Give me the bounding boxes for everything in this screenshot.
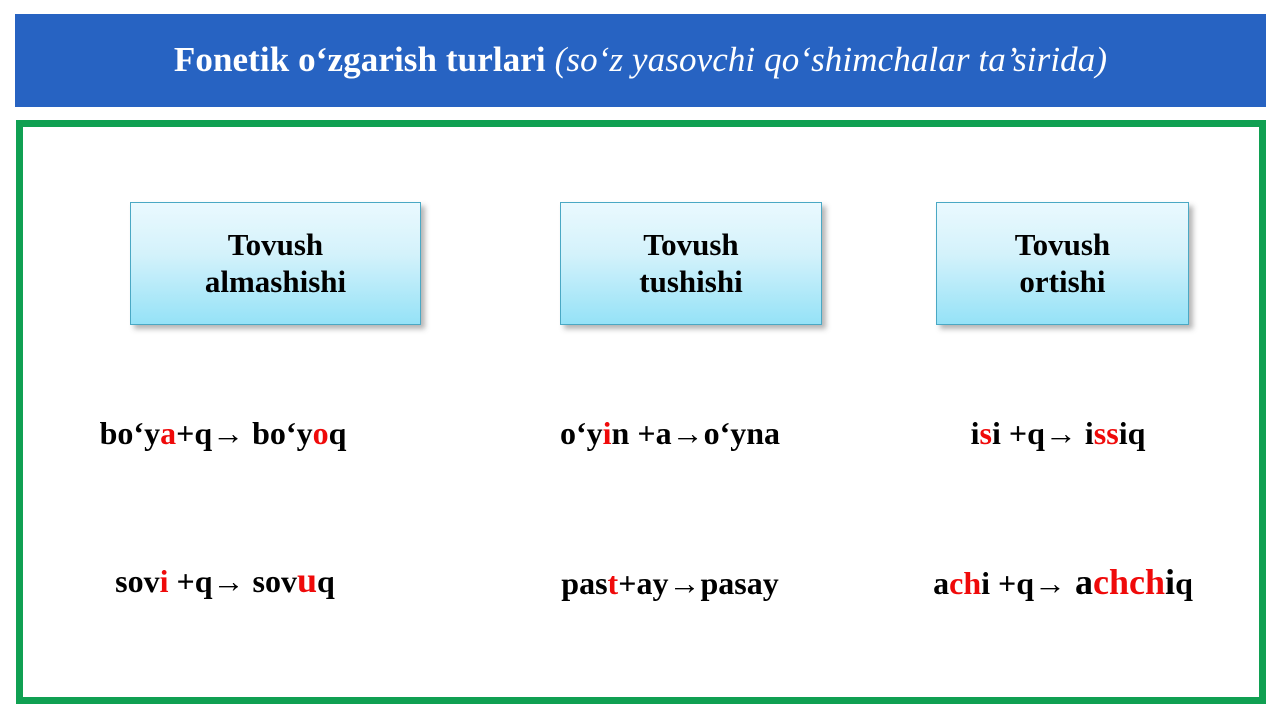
- plain-segment: bo‘y: [244, 415, 312, 451]
- plain-segment: a: [1066, 562, 1093, 602]
- plain-segment: i: [981, 565, 998, 601]
- plain-segment: i: [1165, 562, 1175, 602]
- plain-segment: iq: [1119, 415, 1146, 451]
- plain-segment: pasay: [700, 565, 778, 601]
- plain-segment: →: [212, 415, 244, 451]
- plain-segment: +a: [637, 415, 671, 451]
- plain-segment: q: [1175, 565, 1193, 601]
- plain-segment: +ay: [618, 565, 668, 601]
- plain-segment: q: [317, 563, 335, 599]
- content-frame: Tovush almashishi Tovush tushishi Tovush…: [16, 120, 1266, 704]
- example-row2-col2: past+ay→pasay: [515, 567, 825, 599]
- plain-segment: pas: [561, 565, 607, 601]
- plain-segment: +q: [998, 565, 1034, 601]
- slide-canvas: Fonetik o‘zgarish turlari (so‘z yasovchi…: [0, 0, 1280, 720]
- example-row1-col1: bo‘ya+q→ bo‘yoq: [43, 417, 403, 449]
- slide-title-bar: Fonetik o‘zgarish turlari (so‘z yasovchi…: [15, 14, 1266, 107]
- highlighted-segment: ss: [1094, 415, 1119, 451]
- examples-grid: bo‘ya+q→ bo‘yoq o‘yin +a→o‘yna isi +q→ i…: [23, 127, 1259, 697]
- plain-segment: +q: [1009, 415, 1045, 451]
- highlighted-segment: ch: [949, 565, 981, 601]
- plain-segment: i: [971, 415, 980, 451]
- highlighted-segment: u: [297, 560, 317, 600]
- plain-segment: i: [992, 415, 1009, 451]
- highlighted-segment: s: [980, 415, 992, 451]
- plain-segment: sov: [245, 563, 297, 599]
- example-row2-col3: achi +q→ achchiq: [893, 564, 1233, 600]
- highlighted-segment: o: [313, 415, 329, 451]
- page-title-subtitle: (so‘z yasovchi qo‘shimchalar ta’sirida): [555, 40, 1108, 79]
- highlighted-segment: chch: [1093, 562, 1165, 602]
- plain-segment: n: [612, 415, 638, 451]
- plain-segment: a: [933, 565, 949, 601]
- example-row1-col2: o‘yin +a→o‘yna: [515, 417, 825, 449]
- plain-segment: →: [1045, 415, 1077, 451]
- plain-segment: sov: [115, 563, 159, 599]
- highlighted-segment: i: [160, 563, 169, 599]
- plain-segment: →: [672, 415, 704, 451]
- plain-segment: →: [213, 563, 245, 599]
- plain-segment: +q: [169, 563, 213, 599]
- plain-segment: →: [668, 565, 700, 601]
- page-title-main: Fonetik o‘zgarish turlari: [174, 40, 555, 79]
- highlighted-segment: i: [603, 415, 612, 451]
- plain-segment: o‘y: [560, 415, 603, 451]
- example-row1-col3: isi +q→ issiq: [898, 417, 1218, 449]
- plain-segment: +q: [176, 415, 212, 451]
- plain-segment: →: [1034, 565, 1066, 601]
- highlighted-segment: a: [160, 415, 176, 451]
- plain-segment: i: [1077, 415, 1094, 451]
- highlighted-segment: t: [608, 565, 619, 601]
- plain-segment: q: [329, 415, 347, 451]
- plain-segment: o‘yna: [704, 415, 780, 451]
- example-row2-col1: sovi +q→ sovuq: [45, 562, 405, 598]
- page-title: Fonetik o‘zgarish turlari (so‘z yasovchi…: [174, 41, 1107, 80]
- plain-segment: bo‘y: [100, 415, 160, 451]
